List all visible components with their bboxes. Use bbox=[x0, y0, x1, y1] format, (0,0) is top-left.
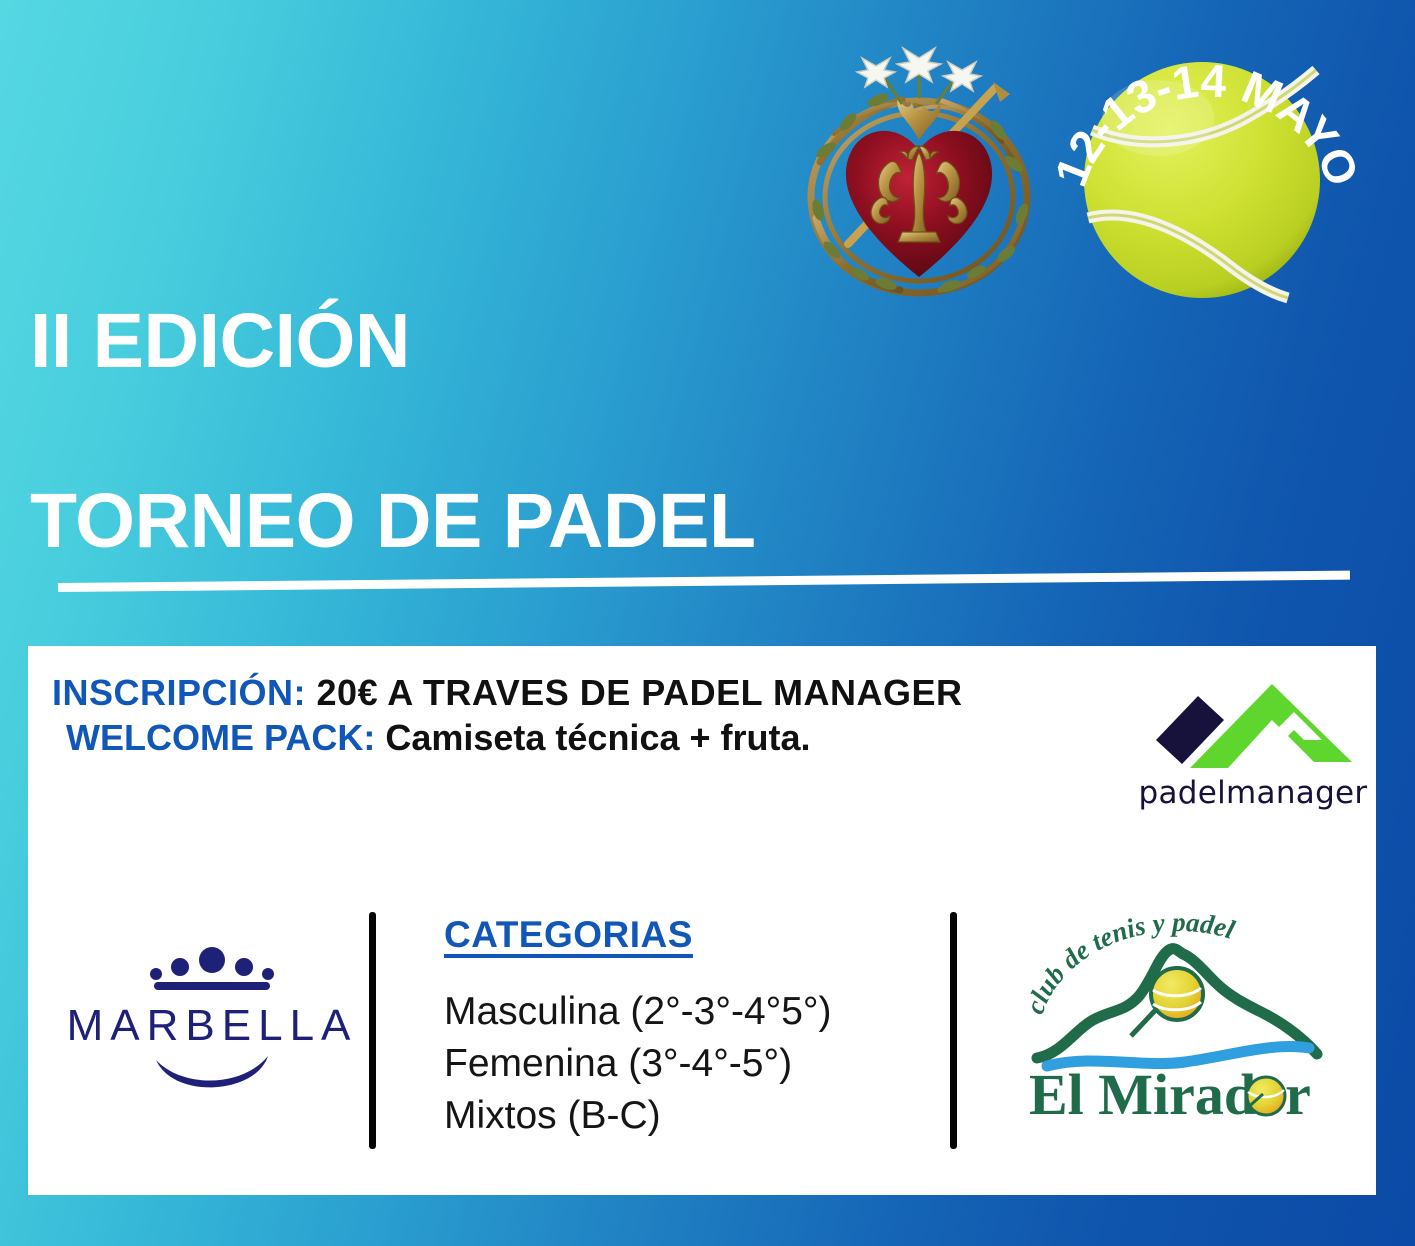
category-item: Mixtos (B-C) bbox=[444, 1090, 944, 1142]
welcome-pack-line: WELCOME PACK: Camiseta técnica + fruta. bbox=[52, 715, 1142, 760]
marbella-crown-icon bbox=[150, 947, 274, 990]
registration-value: 20€ A TRAVES DE PADEL MANAGER bbox=[317, 672, 963, 713]
vertical-divider-right bbox=[950, 912, 957, 1149]
registration-line: INSCRIPCIÓN: 20€ A TRAVES DE PADEL MANAG… bbox=[52, 670, 1142, 715]
el-mirador-logo: club de tenis y padel El Mirador bbox=[1013, 908, 1343, 1123]
lilies bbox=[857, 48, 981, 104]
welcome-pack-label: WELCOME PACK: bbox=[66, 717, 375, 758]
categories-title: CATEGORIAS bbox=[444, 914, 944, 956]
marbella-wordmark: MARBELLA bbox=[70, 1001, 355, 1050]
categories-block: CATEGORIAS Masculina (2°-3°-4°5°) Femeni… bbox=[444, 914, 944, 1142]
marbella-logo-graphic: MARBELLA bbox=[70, 942, 355, 1107]
bottom-row: MARBELLA CATEGORIAS Masculina (2°-3°-4°5… bbox=[28, 904, 1376, 1194]
info-card: INSCRIPCIÓN: 20€ A TRAVES DE PADEL MANAG… bbox=[28, 646, 1376, 1195]
padelmanager-wordmark: padelmanager bbox=[1133, 775, 1373, 811]
headline-line-2: TORNEO DE PADEL bbox=[30, 476, 1390, 566]
categories-list: Masculina (2°-3°-4°5°) Femenina (3°-4°-5… bbox=[444, 986, 944, 1142]
registration-block: INSCRIPCIÓN: 20€ A TRAVES DE PADEL MANAG… bbox=[52, 670, 1142, 761]
category-item: Masculina (2°-3°-4°5°) bbox=[444, 986, 944, 1038]
welcome-pack-value: Camiseta técnica + fruta. bbox=[385, 717, 810, 758]
marbella-swoosh-icon bbox=[156, 1056, 268, 1087]
headline-line-1: II EDICIÓN bbox=[30, 296, 1390, 386]
vertical-divider-left bbox=[369, 912, 376, 1149]
marbella-logo: MARBELLA bbox=[70, 942, 355, 1107]
tournament-poster: 12-13-14 MAYO II EDICIÓN TORNEO DE PADEL… bbox=[0, 0, 1415, 1246]
registration-label: INSCRIPCIÓN: bbox=[52, 672, 306, 713]
padelmanager-mark-icon bbox=[1146, 668, 1361, 773]
padelmanager-logo: padelmanager bbox=[1133, 668, 1373, 823]
el-mirador-logo-graphic: club de tenis y padel El Mirador bbox=[1013, 908, 1343, 1123]
category-item: Femenina (3°-4°-5°) bbox=[444, 1038, 944, 1090]
